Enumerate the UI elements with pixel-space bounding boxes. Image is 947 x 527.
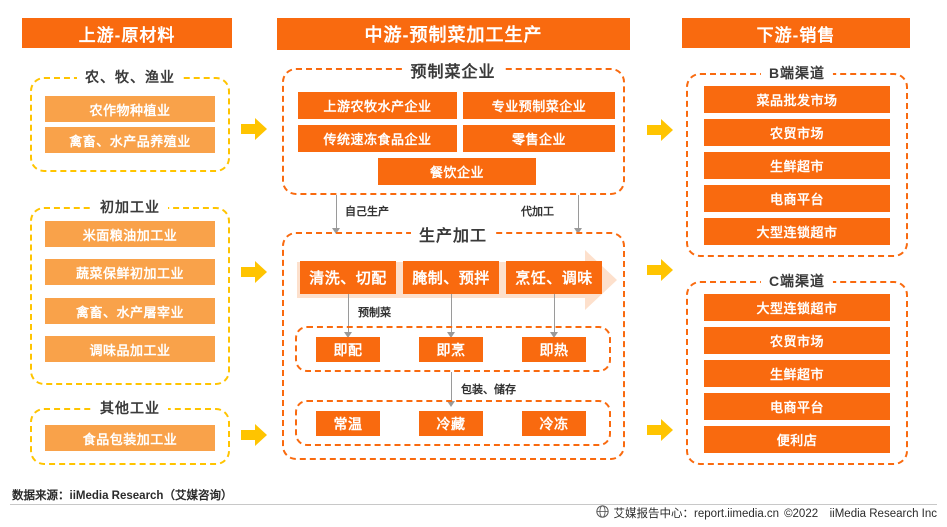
chip-c-fresh-supermarket[interactable]: 生鲜超市 [704,360,890,387]
connector-label-packaging-storage: 包装、储存 [461,381,516,397]
chip-retail-enterprise[interactable]: 零售企业 [463,125,615,152]
chip-vegetable-preservation[interactable]: 蔬菜保鲜初加工业 [45,259,215,285]
connector-line-oem [578,195,579,228]
flow-arrow-mid-to-down-3 [645,415,675,445]
chip-catering-enterprise[interactable]: 餐饮企业 [378,158,536,185]
chip-b-ecommerce-platform[interactable]: 电商平台 [704,185,890,212]
chip-slaughter-industry[interactable]: 禽畜、水产屠宰业 [45,298,215,324]
chip-b-fresh-supermarket[interactable]: 生鲜超市 [704,152,890,179]
flow-arrow-mid-to-down-1 [645,115,675,145]
data-source-label: 数据来源：iiMedia Research（艾媒咨询） [12,487,232,503]
report-center-label: 艾媒报告中心：report.iimedia.cn [614,505,780,521]
chip-ready-to-cook[interactable]: 即烹 [419,337,483,362]
chip-frozen[interactable]: 冷冻 [522,411,586,436]
chip-c-ecommerce-platform[interactable]: 电商平台 [704,393,890,420]
chip-ready-to-heat[interactable]: 即热 [522,337,586,362]
chip-crop-farming[interactable]: 农作物种植业 [45,96,215,122]
chip-livestock-aquaculture[interactable]: 禽畜、水产品养殖业 [45,127,215,153]
chip-traditional-frozen-food-enterprise[interactable]: 传统速冻食品企业 [298,125,457,152]
chip-c-farmers-market[interactable]: 农贸市场 [704,327,890,354]
chip-cook-season[interactable]: 烹饪、调味 [506,261,602,294]
group-c-channel-title: C端渠道 [761,271,833,291]
banner-upstream: 上游-原材料 [22,18,232,48]
group-agriculture [30,77,230,172]
connector-line-packaging [451,372,452,401]
flow-arrow-up-to-mid-3 [239,420,269,450]
connector-label-self-production: 自己生产 [345,203,389,219]
banner-midstream: 中游-预制菜加工生产 [277,18,630,50]
chip-ready-to-assemble[interactable]: 即配 [316,337,380,362]
chip-wash-cut[interactable]: 清洗、切配 [300,261,396,294]
connector-label-oem: 代加工 [521,203,554,219]
chip-grain-oil-processing[interactable]: 米面粮油加工业 [45,221,215,247]
chip-marinate-premix[interactable]: 腌制、预拌 [403,261,499,294]
connector-line-self-production [336,195,337,228]
group-prepared-dish-enterprises-title: 预制菜企业 [402,58,503,82]
chip-food-packaging[interactable]: 食品包装加工业 [45,425,215,451]
chip-c-large-chain-supermarket[interactable]: 大型连锁超市 [704,294,890,321]
group-other-industry-title: 其他工业 [92,398,168,418]
copyright-label: ©2022 iiMedia Research Inc [784,505,937,521]
flow-arrow-up-to-mid-1 [239,114,269,144]
connector-label-prepared-dish: 预制菜 [358,304,391,320]
group-primary-processing-title: 初加工业 [92,197,168,217]
chip-c-convenience-store[interactable]: 便利店 [704,426,890,453]
chip-b-farmers-market[interactable]: 农贸市场 [704,119,890,146]
chip-ambient-temperature[interactable]: 常温 [316,411,380,436]
chip-refrigerated[interactable]: 冷藏 [419,411,483,436]
globe-icon [596,505,609,521]
flow-arrow-up-to-mid-2 [239,257,269,287]
chip-professional-prepared-dish-enterprise[interactable]: 专业预制菜企业 [463,92,615,119]
chip-b-large-chain-supermarket[interactable]: 大型连锁超市 [704,218,890,245]
footer-report-center: 艾媒报告中心：report.iimedia.cn ©2022 iiMedia R… [596,505,937,521]
flow-arrow-mid-to-down-2 [645,255,675,285]
chip-condiment-processing[interactable]: 调味品加工业 [45,336,215,362]
banner-downstream: 下游-销售 [682,18,910,48]
group-b-channel-title: B端渠道 [761,63,833,83]
chip-b-wholesale-market[interactable]: 菜品批发市场 [704,86,890,113]
chip-upstream-agri-enterprise[interactable]: 上游农牧水产企业 [298,92,457,119]
group-production-processing-title: 生产加工 [411,222,495,246]
industry-chain-diagram: 上游-原材料 中游-预制菜加工生产 下游-销售 农、牧、渔业 农作物种植业 禽畜… [0,0,947,527]
group-agriculture-title: 农、牧、渔业 [77,67,183,87]
